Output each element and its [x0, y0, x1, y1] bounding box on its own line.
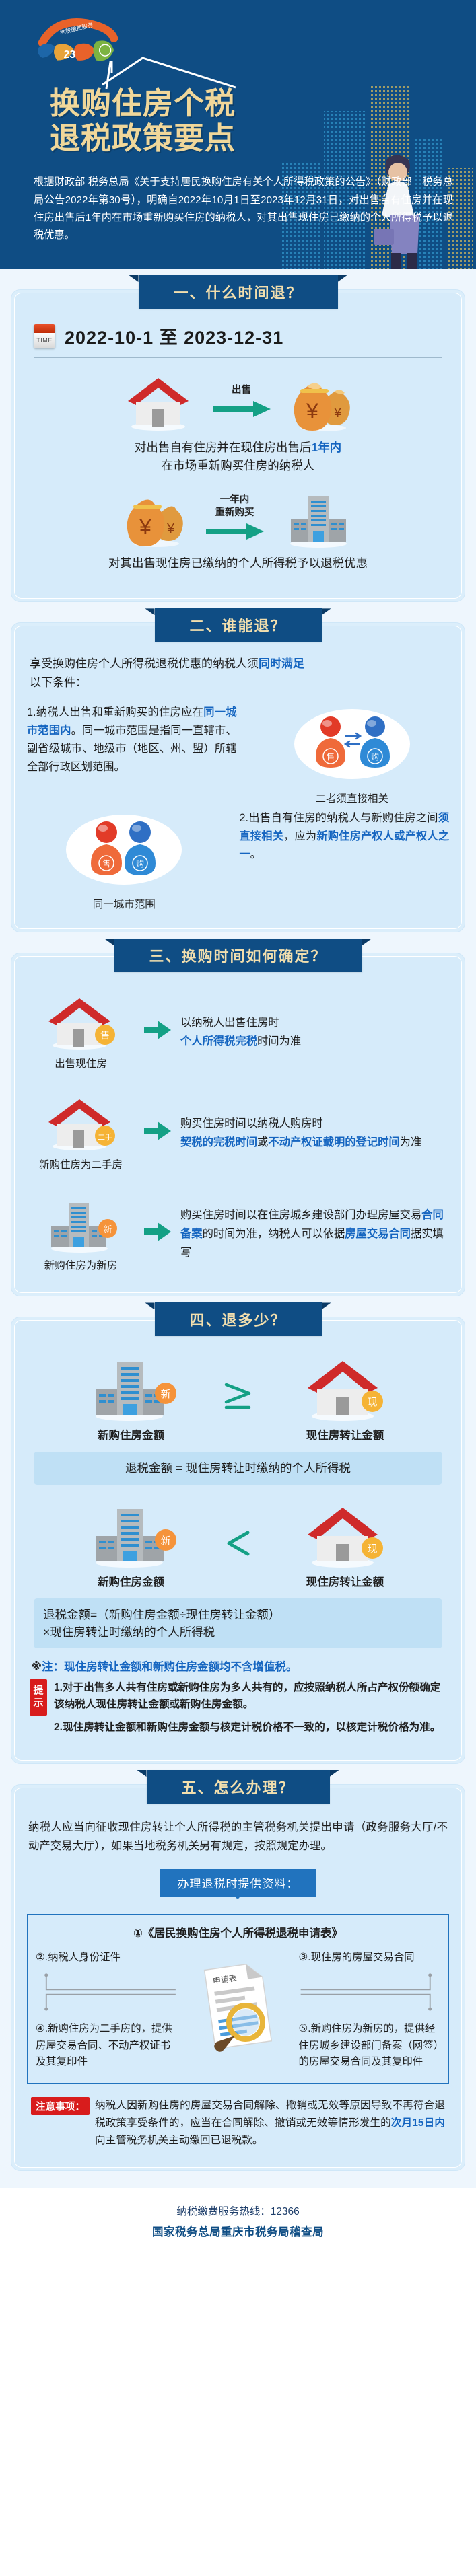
flow-sell: 出售 ¥ ¥	[27, 370, 449, 436]
flow-rebuy-label: 一年内 重新购买	[206, 494, 264, 520]
bracket-right	[299, 1966, 441, 2021]
two-people-same-city-icon: 售 购	[63, 812, 184, 891]
timing-row-newhouse-caption: 新购住房为新房	[27, 1257, 135, 1272]
building-new-icon: 新	[40, 1195, 121, 1253]
calendar-icon-label: TIME	[34, 333, 55, 348]
bracket-left	[36, 1966, 178, 2021]
house-icon	[121, 373, 195, 432]
greater-equal-icon	[222, 1382, 254, 1411]
timing-row-newhouse: 新 新购住房为新房 购买住房时间以在住房城乡建设部门办理房屋交易合同备案的时间为…	[27, 1185, 449, 1278]
svg-text:二手: 二手	[98, 1132, 112, 1142]
timing-row-sell-text: 以纳税人出售住房时个人所得税完税时间为准	[180, 1013, 449, 1051]
svg-text:¥: ¥	[166, 521, 175, 536]
svg-text:新: 新	[103, 1224, 112, 1235]
svg-text:¥: ¥	[306, 399, 318, 423]
arrow-right-icon	[206, 523, 264, 540]
case-2-comparison: 新 新购住房金额	[27, 1494, 449, 1589]
section-5-banner: 五、怎么办理？	[146, 1770, 329, 1804]
house-current-icon: 现	[298, 1354, 393, 1422]
section-4-amount: 四、退多少？	[0, 1296, 476, 1764]
flow-sell-label: 出售	[213, 384, 271, 398]
building-new-icon: 新	[81, 1501, 182, 1568]
warning-block: 注意事项： 纳税人因新购住房的房屋交易合同解除、撤销或无效等原因导致不再符合退税…	[31, 2097, 445, 2149]
hotline-text: 纳税缴费服务热线：12366	[0, 2203, 476, 2218]
flow-sell-caption: 对出售自有住房并在现住房出售后1年内 在市场重新购买住房的纳税人	[27, 439, 449, 475]
svg-text:¥: ¥	[139, 515, 151, 539]
condition-1-text: 1.纳税人出售和重新购买的住房应在同一城市范围内。同一城市范围是指同一直辖市、副…	[27, 704, 237, 776]
money-bags-icon: ¥ ¥	[288, 373, 355, 432]
two-people-exchange-icon: 售 购	[292, 706, 413, 786]
arrow-right-icon	[144, 1021, 171, 1039]
svg-text:购: 购	[136, 858, 144, 869]
figure-2-caption: 同一城市范围	[27, 896, 221, 911]
vat-note: ※注：现住房转让金额和新购住房金额均不含增值税。	[31, 1658, 445, 1674]
timing-row-secondhand: 二手 新购住房为二手房 购买住房时间以纳税人购房时契税的完税时间或不动产权证载明…	[27, 1084, 449, 1177]
condition-1-row: 1.纳税人出售和重新购买的住房应在同一城市范围内。同一城市范围是指同一直辖市、副…	[27, 704, 449, 808]
condition-2-row: 售 购 同一城市范围	[27, 809, 449, 914]
tip-item: 2.现住房转让金额和新购住房金额与核定计税价格不一致的，以核定计税价格为准。	[54, 1719, 446, 1736]
case-2-formula-line1: 退税金额=（新购住房金额÷现住房转让金额）	[43, 1606, 433, 1623]
page-title: 换购住房个税 退税政策要点	[50, 86, 457, 156]
infographic-page: 纳税缴费服务 23 换购住房个税 退税政策要点 根据财政部 税务总局《关于支持居…	[0, 0, 476, 2255]
svg-text:售: 售	[100, 1030, 110, 1041]
house-sell-icon: 售	[40, 993, 121, 1051]
note-mark: ※	[31, 1661, 42, 1673]
section-1-banner: 一、什么时间退？	[138, 275, 337, 309]
case-1-comparison: 新 新购住房金额	[27, 1348, 449, 1442]
case-2-formula-line2: ×现住房转让时缴纳的个人所得税	[43, 1623, 433, 1641]
tip-badge: 提示	[30, 1679, 47, 1716]
divider	[32, 1181, 444, 1181]
materials-chip: 办理退税时提供资料：	[160, 1869, 316, 1897]
document-item-5: ⑤.新购住房为新房的，提供经住房城乡建设部门备案（网签）的房屋交易合同及其复印件	[299, 2021, 441, 2071]
case-1-operator	[218, 1382, 259, 1415]
section-1-when: 一、什么时间退？ TIME 2022-10-1 至 2023-12-31	[0, 269, 476, 602]
section-2-lead: 享受换购住房个人所得税退税优惠的纳税人须同时满足以下条件：	[30, 655, 446, 692]
flow-rebuy-caption: 对其出售现住房已缴纳的个人所得税予以退税优惠	[27, 554, 449, 573]
house-current-icon: 现	[298, 1501, 393, 1568]
flow-rebuy: ¥ ¥ 一年内 重新购买	[27, 486, 449, 552]
arrow-right-icon	[144, 1121, 171, 1140]
timing-row-secondhand-caption: 新购住房为二手房	[27, 1156, 135, 1171]
content-body: 一、什么时间退？ TIME 2022-10-1 至 2023-12-31	[0, 269, 476, 2188]
roof-outline-icon	[101, 55, 242, 90]
application-form-illustration: 申请表	[182, 1950, 295, 2071]
condition-2-text: 2.出售自有住房的纳税人与新购住房之间须直接相关，应为新购住房产权人或产权人之一…	[239, 809, 449, 864]
document-item-1: ①《居民换购住房个人所得税退税申请表》	[36, 1924, 440, 1940]
svg-text:23: 23	[64, 49, 76, 61]
svg-text:¥: ¥	[333, 406, 342, 420]
page-title-line1: 换购住房个税	[50, 86, 457, 121]
building-new-icon: 新	[81, 1354, 182, 1422]
bracket-icon	[299, 1972, 441, 2012]
case-1-right-caption: 现住房转让金额	[281, 1426, 409, 1442]
svg-text:售: 售	[102, 858, 110, 869]
connector-line	[238, 1897, 239, 1914]
divider	[32, 1080, 444, 1080]
case-1-left-caption: 新购住房金额	[67, 1426, 195, 1442]
case-2-operator	[218, 1529, 259, 1561]
house-secondhand-icon: 二手	[40, 1094, 121, 1152]
vertical-divider	[230, 809, 230, 914]
document-item-3: ③.现住房的房屋交易合同	[299, 1950, 441, 1966]
vertical-divider	[246, 704, 246, 808]
svg-text:现: 现	[367, 1397, 377, 1408]
less-than-icon	[222, 1529, 254, 1558]
document-item-4: ④.新购住房为二手房的，提供房屋交易合同、不动产权证书及其复印件	[36, 2021, 178, 2071]
arrow-right-icon	[213, 401, 271, 417]
building-icon	[281, 488, 355, 548]
section-4-banner: 四、退多少？	[154, 1302, 321, 1336]
timing-row-newhouse-text: 购买住房时间以在住房城乡建设部门办理房屋交易合同备案的时间为准，纳税人可以依据房…	[180, 1206, 449, 1262]
timing-row-sell-caption: 出售现住房	[27, 1056, 135, 1070]
figure-two-related: 售 购	[255, 704, 449, 808]
tips-block: 提示 1.对于出售多人共有住房或新购住房为多人共有的，应按照纳税人所占产权份额确…	[30, 1679, 446, 1741]
tip-item: 1.对于出售多人共有住房或新购住房为多人共有的，应按照纳税人所占产权份额确定该纳…	[54, 1679, 446, 1714]
case-1-formula: 退税金额 = 现住房转让时缴纳的个人所得税	[34, 1452, 442, 1484]
section-5-paragraph: 纳税人应当向征收现住房转让个人所得税的主管税务机关提出申请（政务服务大厅/不动产…	[28, 1818, 448, 1855]
document-item-2: ②.纳税人身份证件	[36, 1950, 178, 1966]
timing-row-secondhand-text: 购买住房时间以纳税人购房时契税的完税时间或不动产权证载明的登记时间为准	[180, 1114, 449, 1152]
organization-name: 国家税务总局重庆市税务局稽查局	[0, 2223, 476, 2239]
svg-text:售: 售	[327, 751, 335, 762]
magnifier-document-icon: 申请表	[188, 1956, 289, 2064]
figure-same-city: 售 购 同一城市范围	[27, 809, 221, 914]
warning-badge: 注意事项：	[31, 2097, 90, 2115]
page-title-line2: 退税政策要点	[50, 121, 457, 156]
section-2-banner: 二、谁能退？	[154, 608, 321, 642]
section-3-timing: 三、换购时间如何确定？ 售 出售现住房	[0, 932, 476, 1296]
money-bags-icon: ¥ ¥	[121, 488, 189, 548]
svg-text:新: 新	[160, 1389, 170, 1400]
arrow-right-icon	[144, 1222, 171, 1241]
page-footer: 纳税缴费服务热线：12366 国家税务总局重庆市税务局稽查局	[0, 2188, 476, 2255]
case-2-left-caption: 新购住房金额	[67, 1573, 195, 1589]
warning-text: 纳税人因新购住房的房屋交易合同解除、撤销或无效等原因导致不再符合退税政策享受条件…	[95, 2097, 445, 2149]
documents-box: ①《居民换购住房个人所得税退税申请表》 ②.纳税人身份证件 申请表	[27, 1914, 449, 2084]
svg-text:新: 新	[160, 1535, 170, 1547]
calendar-icon: TIME	[34, 324, 55, 348]
case-2-formula: 退税金额=（新购住房金额÷现住房转让金额） ×现住房转让时缴纳的个人所得税	[34, 1598, 442, 1649]
bracket-icon	[36, 1972, 178, 2012]
svg-text:购: 购	[371, 751, 379, 762]
section-5-howto: 五、怎么办理？ 纳税人应当向征收现住房转让个人所得税的主管税务机关提出申请（政务…	[0, 1764, 476, 2182]
section-2-who: 二、谁能退？ 享受换购住房个人所得税退税优惠的纳税人须同时满足以下条件： 1.纳…	[0, 602, 476, 932]
intro-paragraph: 根据财政部 税务总局《关于支持居民换购住房有关个人所得税政策的公告》（财政部 税…	[34, 174, 453, 244]
section-3-banner: 三、换购时间如何确定？	[114, 939, 362, 972]
timing-row-sell: 售 出售现住房 以纳税人出售住房时个人所得税完税时间为准	[27, 984, 449, 1076]
svg-text:现: 现	[367, 1543, 377, 1555]
hero-header: 纳税缴费服务 23 换购住房个税 退税政策要点 根据财政部 税务总局《关于支持居…	[0, 0, 476, 269]
case-2-right-caption: 现住房转让金额	[281, 1573, 409, 1589]
date-range-row: TIME 2022-10-1 至 2023-12-31	[27, 320, 449, 356]
figure-1-caption: 二者须直接相关	[255, 790, 449, 805]
divider	[34, 357, 442, 358]
date-range-text: 2022-10-1 至 2023-12-31	[65, 323, 283, 349]
